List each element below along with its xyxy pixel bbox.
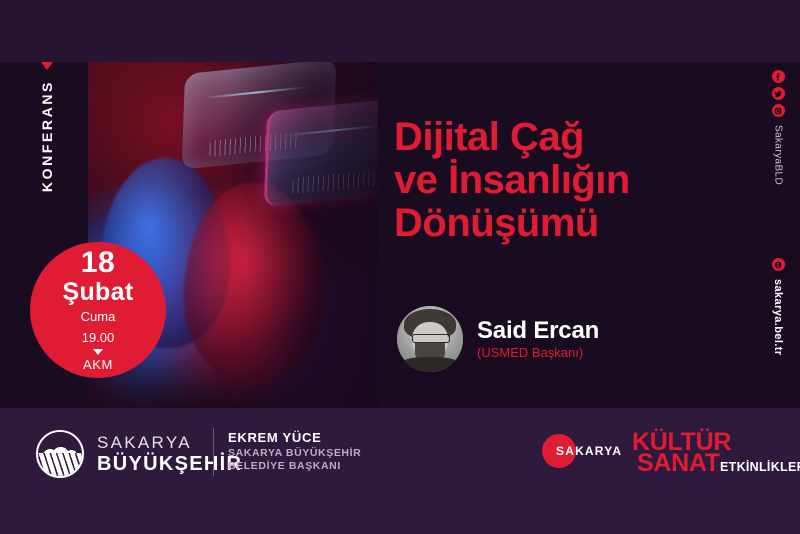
date-weekday: Cuma <box>81 309 116 325</box>
municipality-logo: SAKARYA BÜYÜKŞEHİR <box>36 430 242 478</box>
website-group: sakarya.bel.tr <box>756 258 800 356</box>
social-icons <box>772 70 785 117</box>
culture-logo-etkinlikleri: ETKİNLİKLERİ <box>720 460 800 474</box>
instagram-icon[interactable] <box>772 104 785 117</box>
triangle-down-icon <box>41 62 53 70</box>
facebook-icon[interactable] <box>772 70 785 83</box>
mayor-name: EKREM YÜCE <box>228 430 361 447</box>
social-group: SakaryaBLD <box>756 70 800 185</box>
headline-line-1: Dijital Çağ <box>394 116 694 159</box>
page-title: Dijital Çağ ve İnsanlığın Dönüşümü <box>394 116 694 246</box>
mayor-org-line-1: SAKARYA BÜYÜKŞEHİR <box>228 447 361 460</box>
speaker-block: Said Ercan (USMED Başkanı) <box>397 306 599 372</box>
triangle-down-icon <box>93 349 103 355</box>
mayor-org-line-2: BELEDİYE BAŞKANI <box>228 460 361 473</box>
date-month: Şubat <box>63 279 134 305</box>
avatar <box>397 306 463 372</box>
municipality-wordmark: SAKARYA BÜYÜKŞEHİR <box>97 434 242 474</box>
municipality-line-2: BÜYÜKŞEHİR <box>97 454 242 474</box>
social-rail: SakaryaBLD sakarya.bel.tr <box>756 62 800 408</box>
date-day: 18 <box>81 248 115 278</box>
date-badge: 18 Şubat Cuma 19.00 AKM <box>30 242 166 378</box>
konferans-label: KONFERANS <box>39 80 55 192</box>
municipality-line-1: SAKARYA <box>97 434 242 451</box>
avatar-body <box>402 357 457 372</box>
globe-icon[interactable] <box>772 258 785 271</box>
culture-logo-sanat: SANAT <box>637 451 720 476</box>
event-poster: KONFERANS 18 Şubat Cuma 19.00 AKM Dijita… <box>0 0 800 534</box>
mayor-block: EKREM YÜCE SAKARYA BÜYÜKŞEHİR BELEDİYE B… <box>228 430 361 474</box>
date-time: 19.00 <box>82 330 115 346</box>
culture-logo-sakarya: SAKARYA <box>556 444 622 458</box>
headline-line-2: ve İnsanlığın <box>394 159 694 202</box>
culture-events-logo: SAKARYA KÜLTÜR SANAT ETKİNLİKLERİ <box>542 428 772 478</box>
headline-line-3: Dönüşümü <box>394 202 694 245</box>
glasses-icon <box>412 334 450 343</box>
konferans-badge: KONFERANS <box>30 62 64 242</box>
speaker-role: (USMED Başkanı) <box>477 345 599 360</box>
website-url[interactable]: sakarya.bel.tr <box>772 279 784 356</box>
footer-divider <box>213 428 214 476</box>
speaker-text: Said Ercan (USMED Başkanı) <box>477 318 599 360</box>
date-venue: AKM <box>83 357 113 372</box>
speaker-name: Said Ercan <box>477 318 599 343</box>
crest-furrows <box>38 453 82 476</box>
sakarya-crest-icon <box>36 430 84 478</box>
social-handle: SakaryaBLD <box>773 125 784 185</box>
twitter-icon[interactable] <box>772 87 785 100</box>
